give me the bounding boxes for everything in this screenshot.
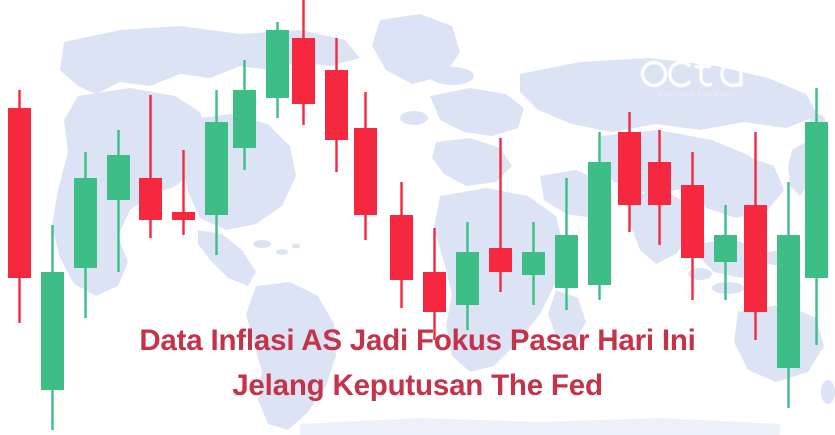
candlestick [266,22,289,118]
candle-body [8,108,31,278]
candle-body [390,215,413,280]
headline-line-1: Data Inflasi AS Jadi Fokus Pasar Hari In… [0,318,835,363]
candle-body [233,90,256,148]
candle-body [139,178,162,220]
candle-body [205,122,228,215]
candle-body [107,155,130,200]
banner-headline: Data Inflasi AS Jadi Fokus Pasar Hari In… [0,318,835,408]
candle-body [618,132,641,205]
candlestick [489,138,512,292]
candle-body [423,272,446,312]
candlestick [8,90,31,323]
candlestick [522,222,545,305]
candlestick [648,130,671,245]
candlestick [233,60,256,170]
candle-body [354,128,377,215]
candlestick [744,132,767,340]
candlestick [588,132,611,300]
candlestick [325,38,348,172]
candle-body [522,252,545,275]
candle-body [74,178,97,268]
candle-body [172,212,195,220]
candlestick [74,152,97,318]
candlestick [292,0,315,125]
candlestick [555,178,578,310]
candle-body [325,70,348,140]
candlestick [139,95,162,238]
headline-line-2: Jelang Keputusan The Fed [0,363,835,408]
candlestick [681,152,704,300]
candle-body [681,185,704,258]
candlestick [205,90,228,255]
candle-body [456,252,479,305]
candlestick [354,92,377,240]
candlestick [456,222,479,330]
candle-body [744,205,767,312]
candlestick [805,88,828,345]
candle-body [266,30,289,98]
candlestick [714,205,737,300]
news-banner: meesidino balyangko Data Inflasi AS Jadi… [0,0,835,435]
candle-body [714,235,737,262]
octa-logo-tagline: meesidino balyangko [634,91,759,98]
candle-body [648,162,671,205]
octa-logo: meesidino balyangko [634,52,759,104]
candle-body [292,38,315,104]
candle-body [805,122,828,278]
candlestick [172,150,195,235]
candlestick [390,182,413,308]
candlestick [618,112,641,232]
octa-wordmark-icon [638,52,756,88]
candle-body [588,162,611,285]
candlestick [107,130,130,272]
candle-body [555,235,578,288]
candle-body [489,248,512,272]
